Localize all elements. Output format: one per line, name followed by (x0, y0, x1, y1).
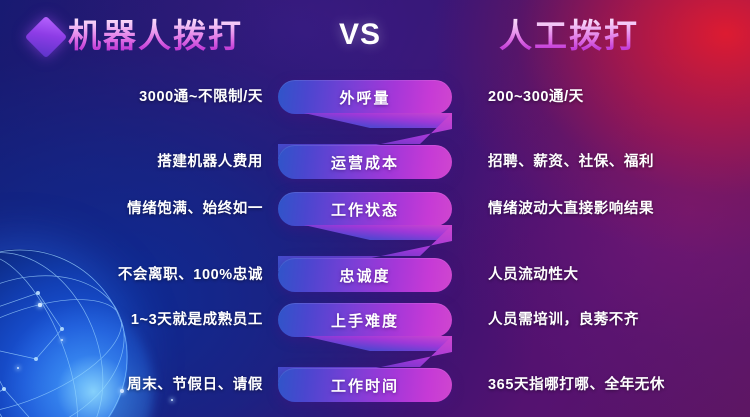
row-category-label: 运营成本 (331, 152, 399, 173)
row-right-value: 365天指哪打哪、全年无休 (488, 368, 665, 402)
row-right-value: 情绪波动大直接影响结果 (488, 192, 654, 226)
row-category-label: 外呼量 (339, 87, 390, 108)
comparison-row: 情绪饱满、始终如一工作状态情绪波动大直接影响结果 (0, 192, 750, 226)
row-category-pill[interactable]: 忠诚度 (278, 258, 452, 292)
comparison-row: 1~3天就是成熟员工上手难度人员需培训，良莠不齐 (0, 303, 750, 337)
row-left-value: 周末、节假日、请假 (127, 368, 263, 402)
comparison-row: 不会离职、100%忠诚忠诚度人员流动性大 (0, 258, 750, 292)
row-left-value: 3000通~不限制/天 (139, 80, 263, 114)
row-category-label: 上手难度 (331, 310, 399, 331)
row-right-value: 人员流动性大 (488, 258, 579, 292)
row-category-label: 工作状态 (331, 199, 399, 220)
row-category-pill[interactable]: 工作时间 (278, 368, 452, 402)
comparison-row: 搭建机器人费用运营成本招聘、薪资、社保、福利 (0, 145, 750, 179)
row-left-value: 不会离职、100%忠诚 (118, 258, 263, 292)
row-left-value: 1~3天就是成熟员工 (131, 303, 263, 337)
row-category-pill[interactable]: 工作状态 (278, 192, 452, 226)
row-category-label: 忠诚度 (339, 265, 390, 286)
comparison-row: 3000通~不限制/天外呼量200~300通/天 (0, 80, 750, 114)
row-right-value: 200~300通/天 (488, 80, 584, 114)
comparison-rows: 3000通~不限制/天外呼量200~300通/天搭建机器人费用运营成本招聘、薪资… (0, 0, 750, 417)
comparison-infographic: 机器人拨打 VS 人工拨打 3000通~不限制/天外呼量200~300通/天搭建… (0, 0, 750, 417)
row-category-label: 工作时间 (331, 375, 399, 396)
row-right-value: 人员需培训，良莠不齐 (488, 303, 639, 337)
row-category-pill[interactable]: 上手难度 (278, 303, 452, 337)
row-right-value: 招聘、薪资、社保、福利 (488, 145, 654, 179)
comparison-row: 周末、节假日、请假工作时间365天指哪打哪、全年无休 (0, 368, 750, 402)
row-category-pill[interactable]: 外呼量 (278, 80, 452, 114)
row-category-pill[interactable]: 运营成本 (278, 145, 452, 179)
row-left-value: 搭建机器人费用 (157, 145, 263, 179)
row-left-value: 情绪饱满、始终如一 (127, 192, 263, 226)
